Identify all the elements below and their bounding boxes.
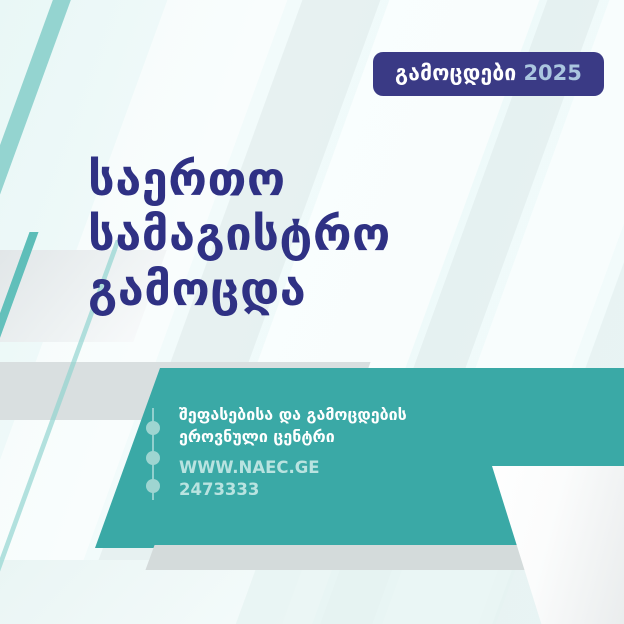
title-line-3: გამოცდა bbox=[88, 262, 391, 317]
exam-year-badge: გამოცდები 2025 bbox=[373, 52, 604, 96]
badge-year: 2025 bbox=[523, 63, 581, 84]
title-line-2: სამაგისტრო bbox=[88, 207, 391, 262]
contact-details: WWW.NAEC.GE 2473333 bbox=[179, 457, 407, 500]
phone-number[interactable]: 2473333 bbox=[179, 479, 407, 500]
poster-canvas: გამოცდები 2025 საერთო სამაგისტრო გამოცდა… bbox=[0, 0, 624, 624]
footer-text-group: შეფასებისა და გამოცდების ეროვნული ცენტრი… bbox=[179, 404, 407, 500]
organization-name-line-2: ეროვნული ცენტრი bbox=[179, 426, 407, 448]
rail-dot-icon bbox=[146, 479, 160, 493]
organization-name-line-1: შეფასებისა და გამოცდების bbox=[179, 404, 407, 426]
page-title: საერთო სამაგისტრო გამოცდა bbox=[88, 152, 391, 317]
rail-dot-icon bbox=[146, 451, 160, 465]
title-line-1: საერთო bbox=[88, 152, 391, 207]
dot-rail-decoration bbox=[146, 408, 160, 500]
badge-label: გამოცდები bbox=[395, 63, 516, 84]
footer-contact-block: შეფასებისა და გამოცდების ეროვნული ცენტრი… bbox=[146, 404, 407, 500]
rail-dot-icon bbox=[146, 421, 160, 435]
website-link[interactable]: WWW.NAEC.GE bbox=[179, 457, 407, 478]
